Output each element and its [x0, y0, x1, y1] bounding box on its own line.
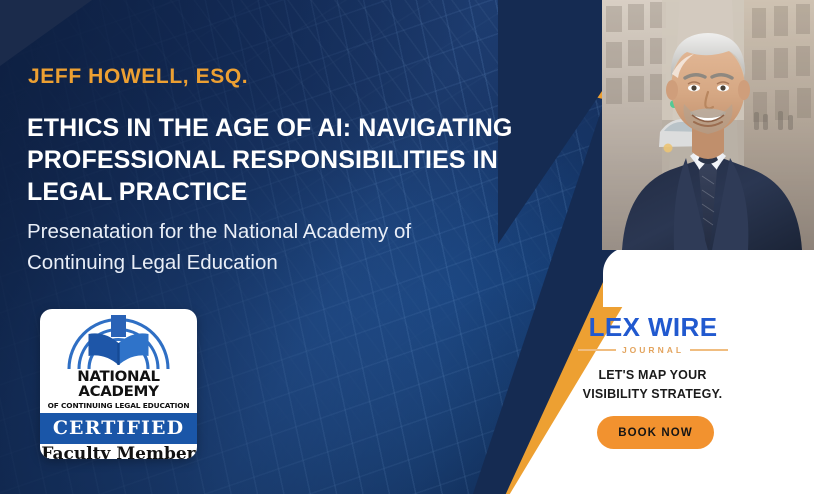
status-badge: CERTIFIED: [40, 413, 197, 444]
cta-headline: LET'S MAP YOUR VISIBILITY STRATEGY.: [560, 366, 745, 404]
subtitle-line-2: Continuing Legal Education: [27, 247, 535, 278]
brand-rule-left: [578, 349, 616, 351]
book-now-button[interactable]: BOOK NOW: [597, 416, 714, 449]
slide-subtitle: Presenatation for the National Academy o…: [27, 216, 535, 278]
badge-role: Faculty Member: [40, 444, 197, 459]
certification-badge: NATIONAL ACADEMY OF CONTINUING LEGAL EDU…: [40, 309, 197, 459]
white-panel-corner: [603, 247, 663, 307]
cta-headline-line-1: LET'S MAP YOUR: [598, 368, 706, 382]
open-book-with-rays-icon: [40, 313, 197, 369]
subtitle-line-1: Presenatation for the National Academy o…: [27, 220, 411, 243]
badge-organization: NATIONAL ACADEMY: [40, 370, 197, 399]
brand-name: LEX WIRE: [578, 314, 728, 340]
presentation-slide: JEFF HOWELL, ESQ. ETHICS IN THE AGE OF A…: [0, 0, 814, 494]
brand-logo: LEX WIRE JOURNAL: [578, 314, 728, 355]
cta-headline-line-2: VISIBILITY STRATEGY.: [583, 387, 723, 401]
brand-subtitle-text: JOURNAL: [622, 345, 684, 355]
top-left-corner-triangle: [0, 0, 92, 66]
page-title: ETHICS IN THE AGE OF AI: NAVIGATING PROF…: [27, 112, 567, 208]
speaker-name: JEFF HOWELL, ESQ.: [28, 65, 248, 89]
brand-rule-right: [690, 349, 728, 351]
badge-organization-sub: OF CONTINUING LEGAL EDUCATION: [40, 401, 197, 410]
speaker-photo: [602, 0, 814, 250]
brand-subtitle: JOURNAL: [578, 345, 728, 355]
